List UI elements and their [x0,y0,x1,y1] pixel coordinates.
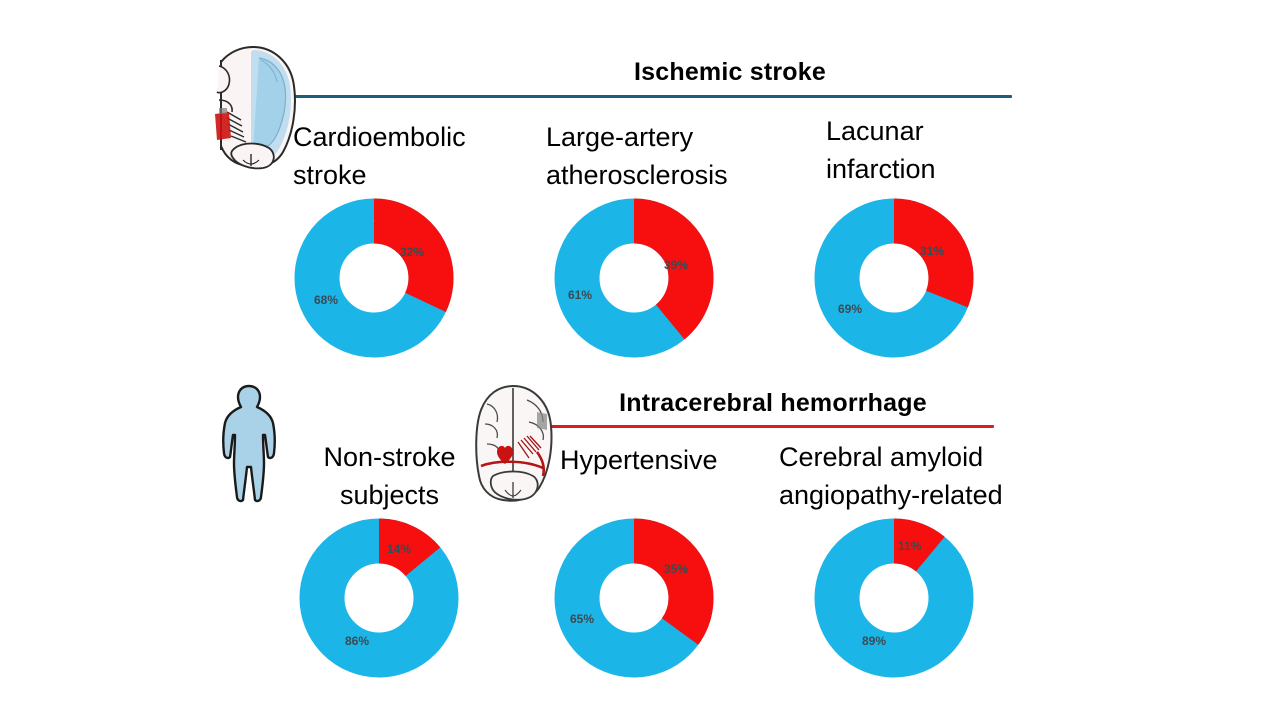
donut-value-label-red: 35% [664,562,688,576]
donut-value-label-red: 32% [400,245,424,259]
donut-svg-large-artery [554,198,714,358]
donut-value-label-blue: 61% [568,288,592,302]
donut-value-label-blue: 86% [345,634,369,648]
donut-chart-non-stroke: 14% 86% [299,518,459,678]
section-rule-hemorrhage [528,425,994,428]
person-silhouette-icon [212,383,286,505]
donut-value-label-red: 39% [664,258,688,272]
donut-value-label-blue: 69% [838,302,862,316]
label-large-artery-atherosclerosis: Large-artery atherosclerosis [546,118,796,195]
label-cardioembolic-stroke: Cardioembolic stroke [293,118,533,195]
donut-value-label-red: 31% [920,244,944,258]
donut-chart-lacunar: 31% 69% [814,198,974,358]
brain-coronal-ischemic-icon [199,42,303,170]
label-lacunar-infarction: Lacunar infarction [826,112,1026,189]
donut-value-label-blue: 65% [570,612,594,626]
donut-value-label-red: 14% [387,542,411,556]
donut-chart-hypertensive: 35% 65% [554,518,714,678]
donut-svg-cerebral-amyloid [814,518,974,678]
section-title-intracerebral-hemorrhage: Intracerebral hemorrhage [528,389,994,418]
donut-chart-cardioembolic: 32% 68% [294,198,454,358]
section-title-ischemic-stroke: Ischemic stroke [248,58,1012,87]
section-rule-ischemic [248,95,1012,98]
donut-svg-lacunar [814,198,974,358]
donut-svg-hypertensive [554,518,714,678]
donut-chart-large-artery: 39% 61% [554,198,714,358]
donut-svg-non-stroke [299,518,459,678]
donut-chart-cerebral-amyloid: 11% 89% [814,518,974,678]
label-non-stroke-subjects: Non-stroke subjects [282,438,497,515]
slide-canvas: Ischemic stroke Cardioembolic stroke Lar… [0,0,1280,720]
section-header-ischemic-stroke: Ischemic stroke [248,58,1012,98]
donut-svg-cardioembolic [294,198,454,358]
donut-value-label-red: 11% [898,539,921,553]
section-header-intracerebral-hemorrhage: Intracerebral hemorrhage [528,389,994,428]
label-cerebral-amyloid-angiopathy: Cerebral amyloid angiopathy-related [779,438,1069,515]
donut-value-label-blue: 68% [314,293,338,307]
donut-value-label-blue: 89% [862,634,886,648]
